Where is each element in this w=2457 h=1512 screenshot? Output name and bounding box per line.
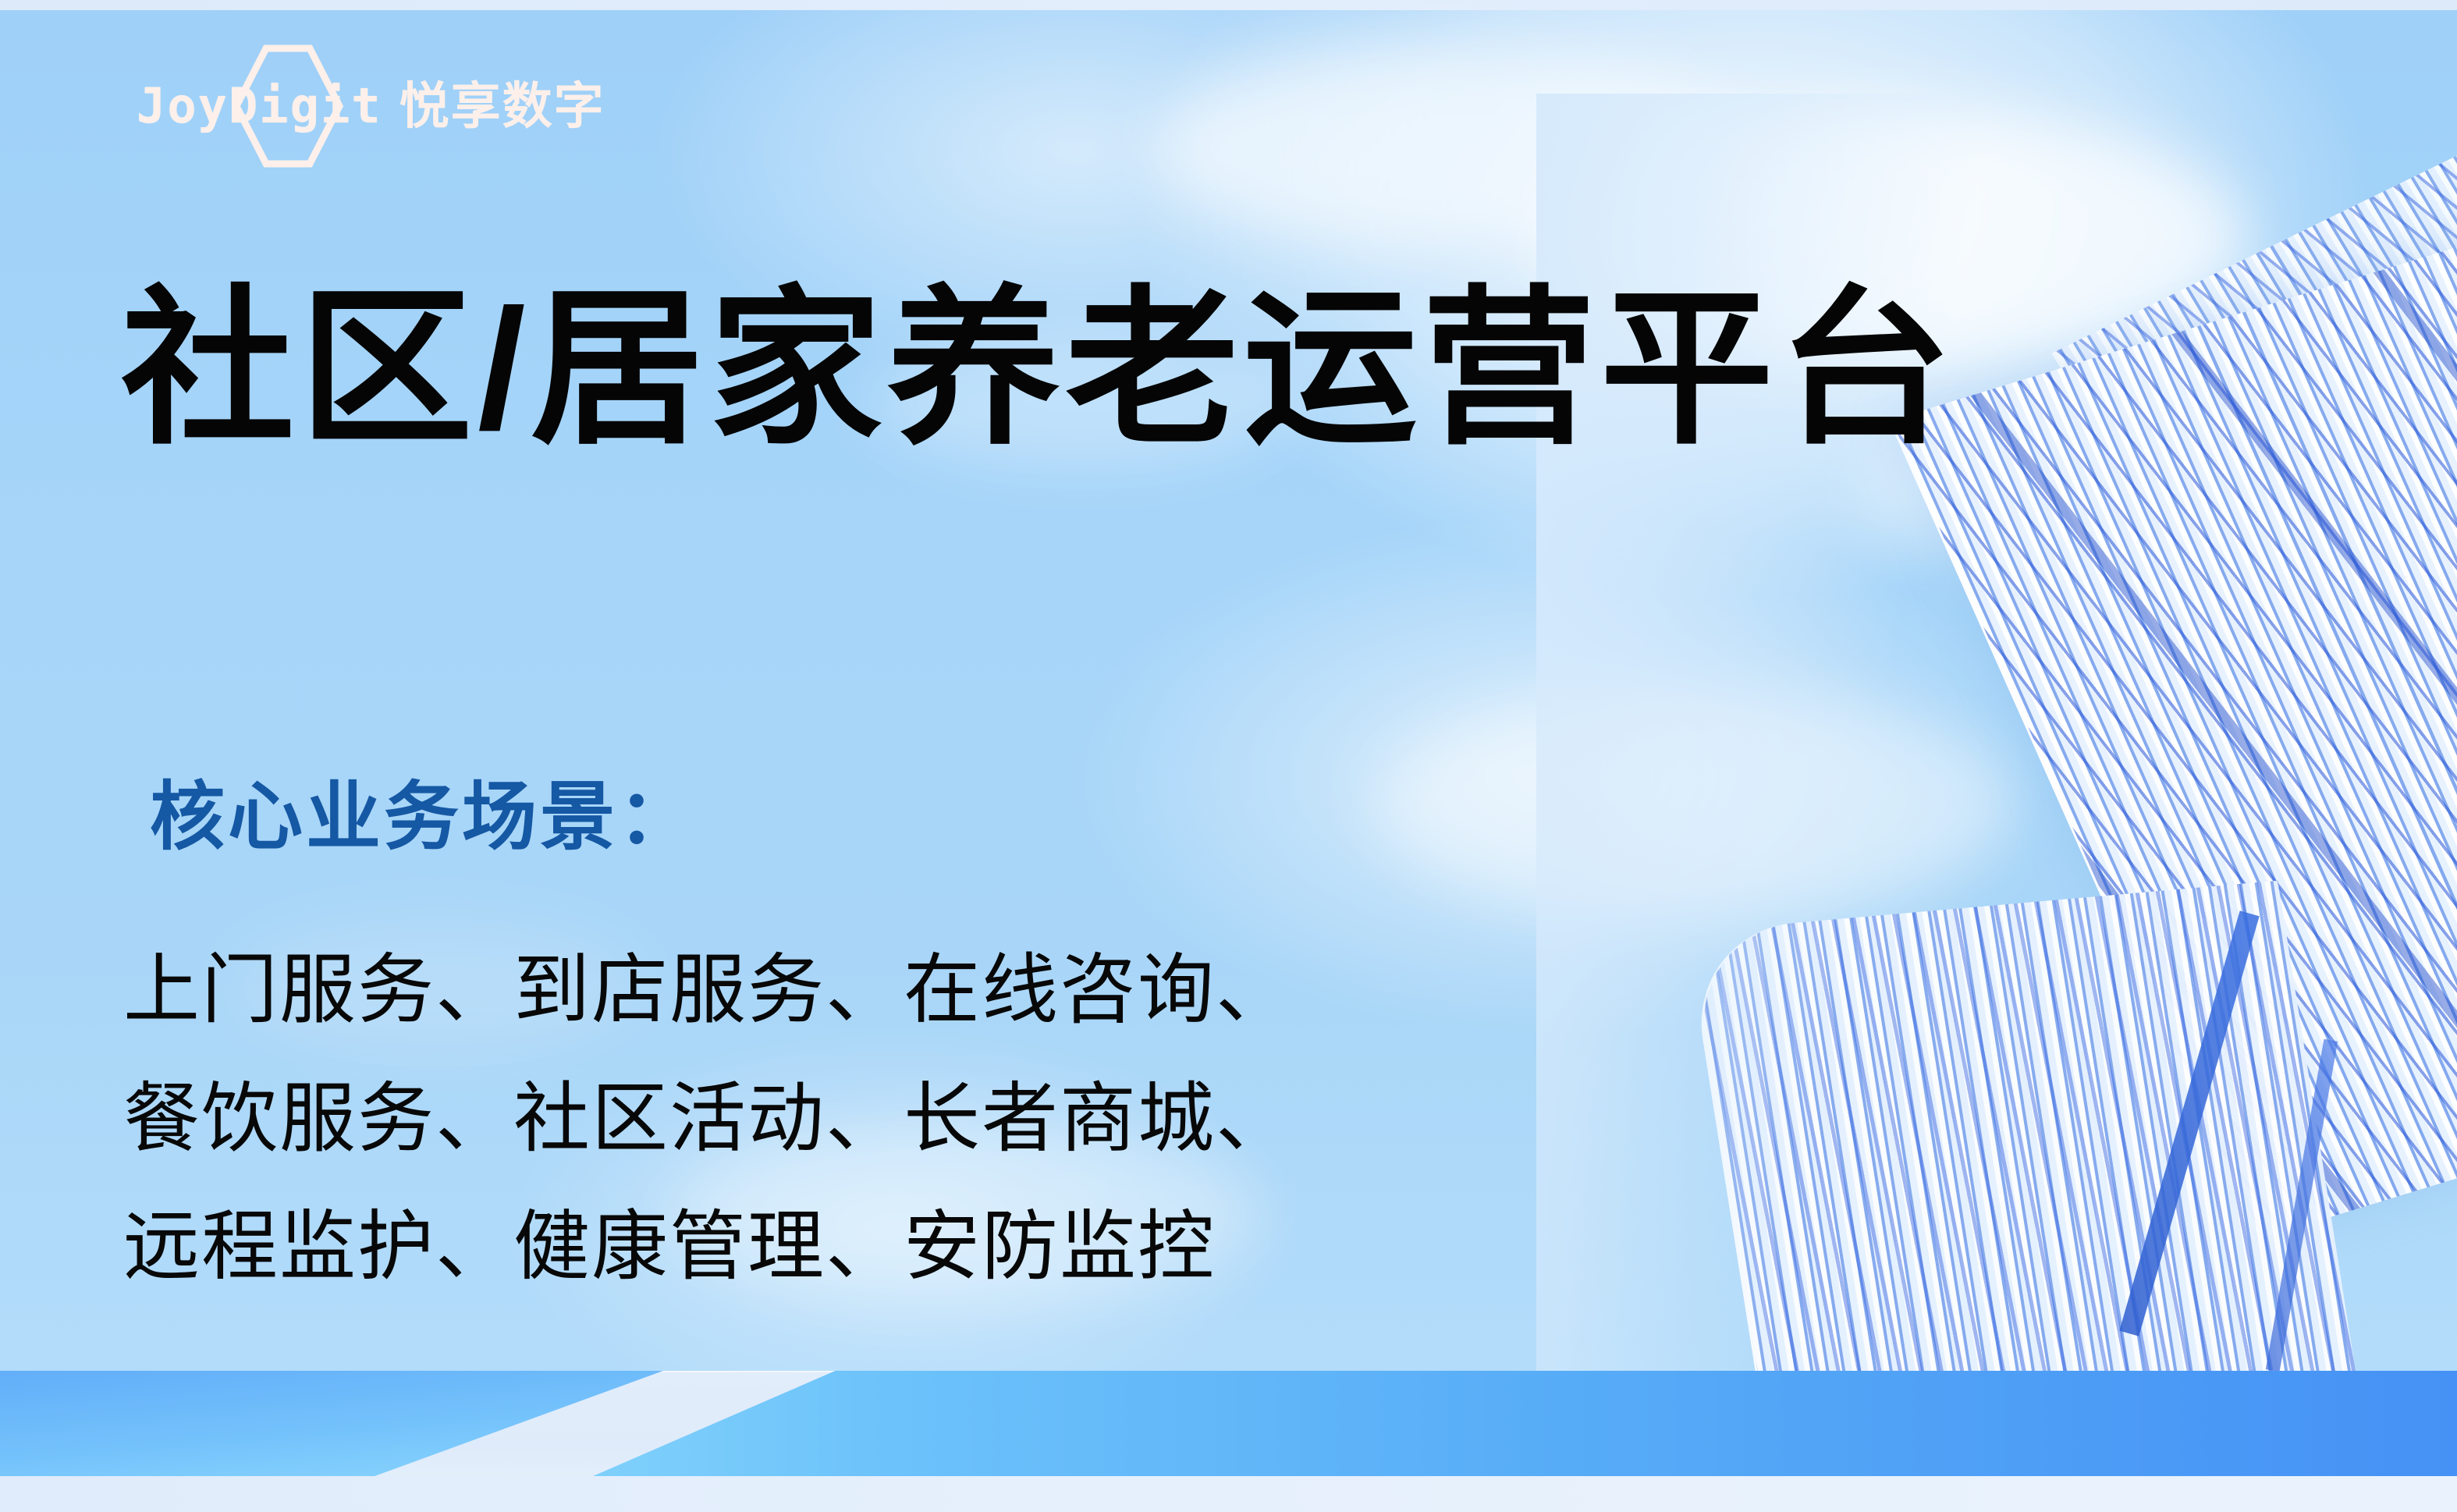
scenario-line: 远程监护、健康管理、安防监控 — [123, 1182, 1294, 1311]
section-heading: 核心业务场景： — [150, 780, 696, 855]
top-edge-strip — [0, 0, 2457, 10]
brand-logo[interactable]: JoyDigit 悦享数字 — [137, 70, 605, 142]
scenario-list: 上门服务、到店服务、在线咨询、 餐饮服务、社区活动、长者商城、 远程监护、健康管… — [123, 925, 1294, 1311]
band-right-parallelogram — [593, 1371, 2457, 1476]
logo-wordmark: JoyDigit — [137, 82, 382, 130]
scenario-line: 上门服务、到店服务、在线咨询、 — [123, 925, 1294, 1054]
logo-chinese-name: 悦享数字 — [399, 81, 605, 131]
slide-canvas: JoyDigit 悦享数字 社区/居家养老运营平台 核心业务场景： 上门服务、到… — [0, 0, 2457, 1512]
page-title: 社区/居家养老运营平台 — [121, 275, 2310, 465]
scenario-line: 餐饮服务、社区活动、长者商城、 — [123, 1054, 1294, 1183]
bottom-decorative-band — [0, 1371, 2457, 1512]
band-base-strip — [0, 1476, 2457, 1512]
band-left-parallelogram — [0, 1371, 663, 1476]
